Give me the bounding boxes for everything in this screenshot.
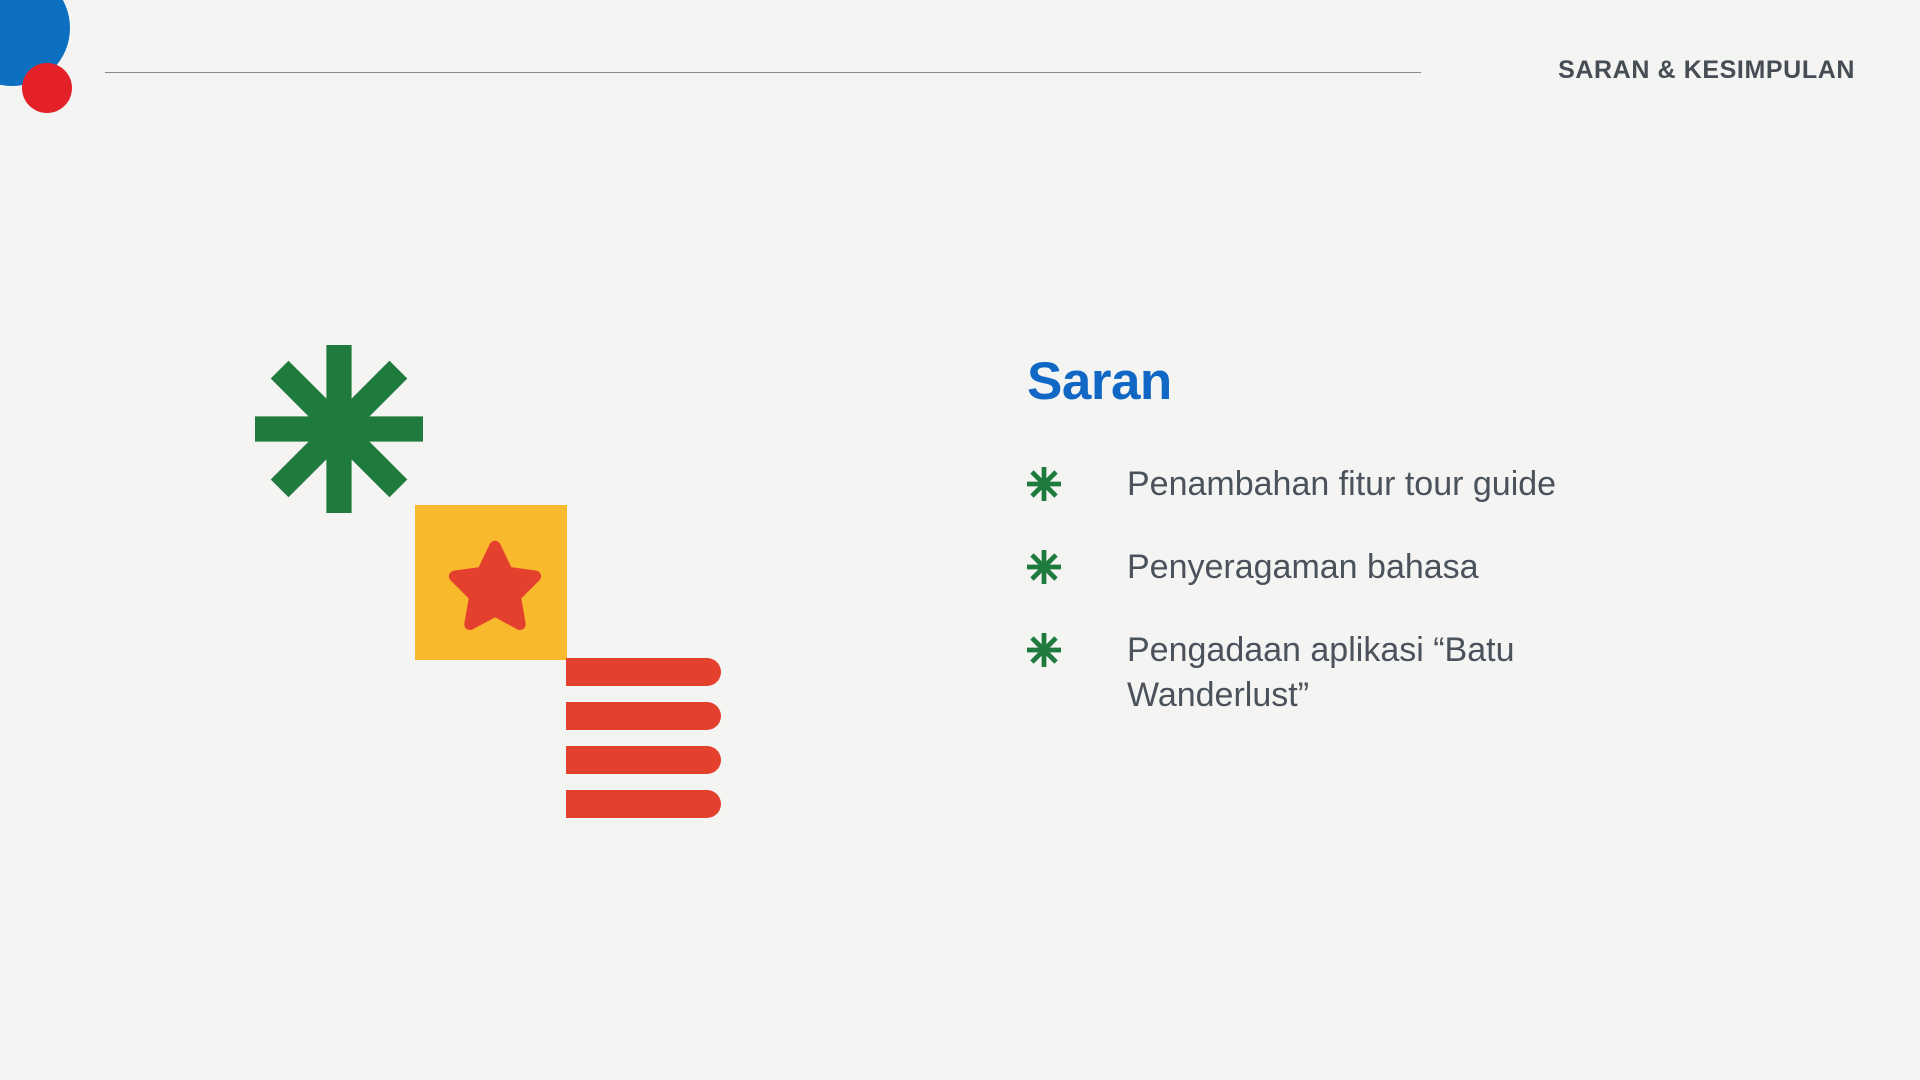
logo-mark	[0, 0, 130, 140]
stripe-bar	[566, 790, 721, 818]
list-item-label: Penambahan fitur tour guide	[1127, 462, 1687, 507]
stripe-bar	[566, 702, 721, 730]
asterisk-icon	[1027, 633, 1061, 667]
asterisk-icon	[1027, 467, 1061, 501]
decorative-graphic	[255, 345, 735, 835]
list-item-label: Pengadaan aplikasi “Batu Wanderlust”	[1127, 628, 1547, 718]
list-item: Penyeragaman bahasa	[1027, 545, 1807, 590]
content-column: Saran Penambahan fitur tour guide	[1027, 355, 1807, 756]
header-divider	[105, 72, 1421, 73]
asterisk-icon	[1027, 550, 1061, 584]
section-title: Saran	[1027, 355, 1807, 408]
asterisk-icon	[255, 345, 423, 513]
list-item-label: Penyeragaman bahasa	[1127, 545, 1687, 590]
list-item: Pengadaan aplikasi “Batu Wanderlust”	[1027, 628, 1807, 718]
stripe-bar	[566, 746, 721, 774]
list-item: Penambahan fitur tour guide	[1027, 462, 1807, 507]
stripe-bar	[566, 658, 721, 686]
star-icon	[447, 535, 543, 631]
page-title: SARAN & KESIMPULAN	[1558, 56, 1855, 85]
